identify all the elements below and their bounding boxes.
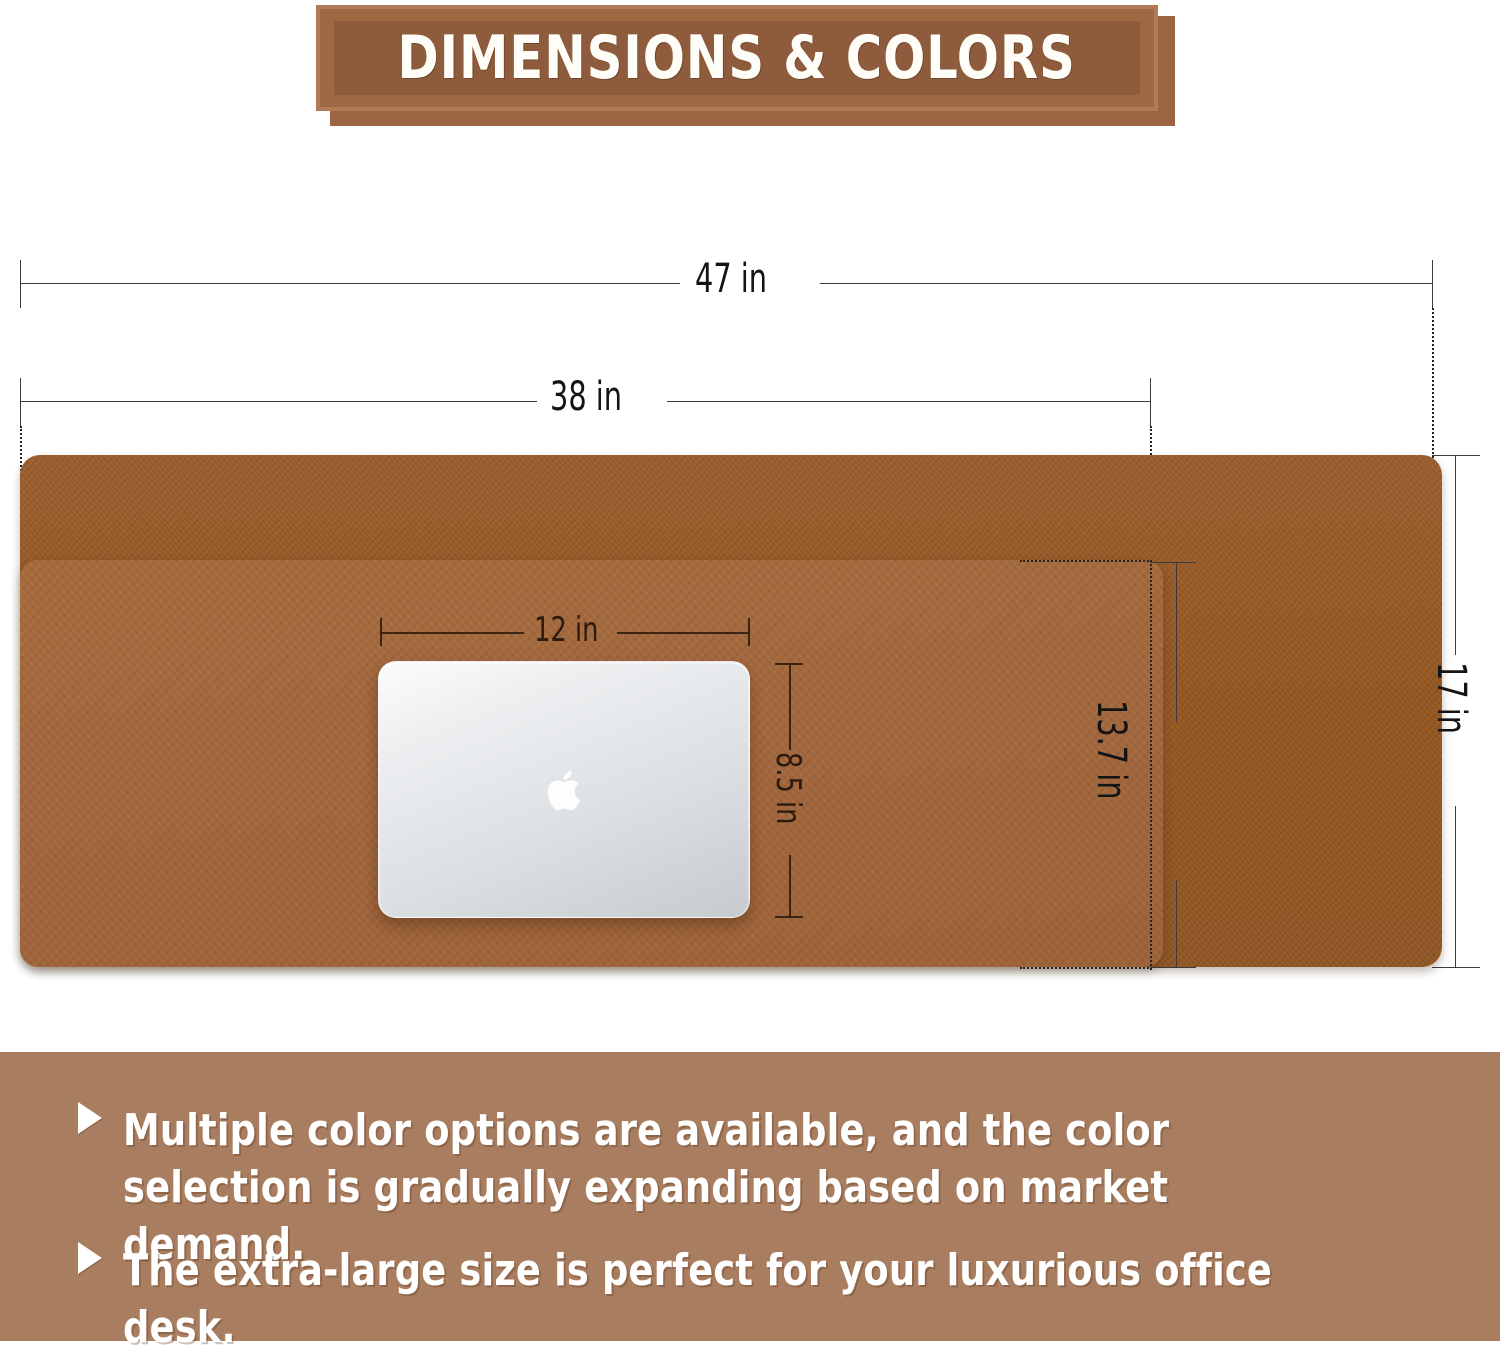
dimension-line-8-5in-bottom xyxy=(789,855,791,917)
dimension-line-38in-right xyxy=(667,401,1151,402)
dimension-line-17in-bottom xyxy=(1455,806,1456,967)
extension-line-inner-bottom xyxy=(1020,967,1152,969)
dimension-line-12in-right xyxy=(617,632,750,634)
extension-line-inner-right xyxy=(1150,560,1152,970)
dimension-diagram: 47 in 38 in 17 in 13.7 in xyxy=(0,0,1500,1045)
dimension-label-38in: 38 in xyxy=(550,374,622,420)
triangle-bullet-icon xyxy=(78,1242,102,1274)
dimension-line-13-7in-top xyxy=(1176,562,1177,722)
dimension-label-8-5in: 8.5 in xyxy=(768,752,808,824)
tick-bottom-13-7in xyxy=(1150,967,1196,968)
apple-logo-icon xyxy=(541,763,587,817)
triangle-bullet-icon xyxy=(78,1102,102,1134)
macbook-laptop xyxy=(378,661,750,918)
tick-bottom-17in xyxy=(1432,967,1480,968)
tick-top-13-7in xyxy=(1150,562,1196,563)
dimension-line-47in-left xyxy=(20,283,680,284)
dimension-line-47in-right xyxy=(820,283,1433,284)
dimension-line-13-7in-bottom xyxy=(1176,880,1177,967)
dimension-label-47in: 47 in xyxy=(695,256,767,302)
bullet-text-2: The extra-large size is perfect for your… xyxy=(123,1242,1351,1356)
dimension-line-17in-top xyxy=(1455,455,1456,655)
dimension-label-13-7in: 13.7 in xyxy=(1088,700,1134,799)
extension-line-inner-top xyxy=(1020,560,1152,562)
dimension-label-17in: 17 in xyxy=(1428,662,1474,734)
extension-line-47in-right xyxy=(1432,308,1434,458)
dimension-line-12in-left xyxy=(380,632,524,634)
feature-bullets-bar: Multiple color options are available, an… xyxy=(0,1052,1500,1341)
dimension-line-38in-left xyxy=(20,401,537,402)
dimension-label-12in: 12 in xyxy=(534,610,598,650)
list-item: The extra-large size is perfect for your… xyxy=(78,1242,1478,1356)
dimension-line-8-5in-top xyxy=(789,663,791,750)
